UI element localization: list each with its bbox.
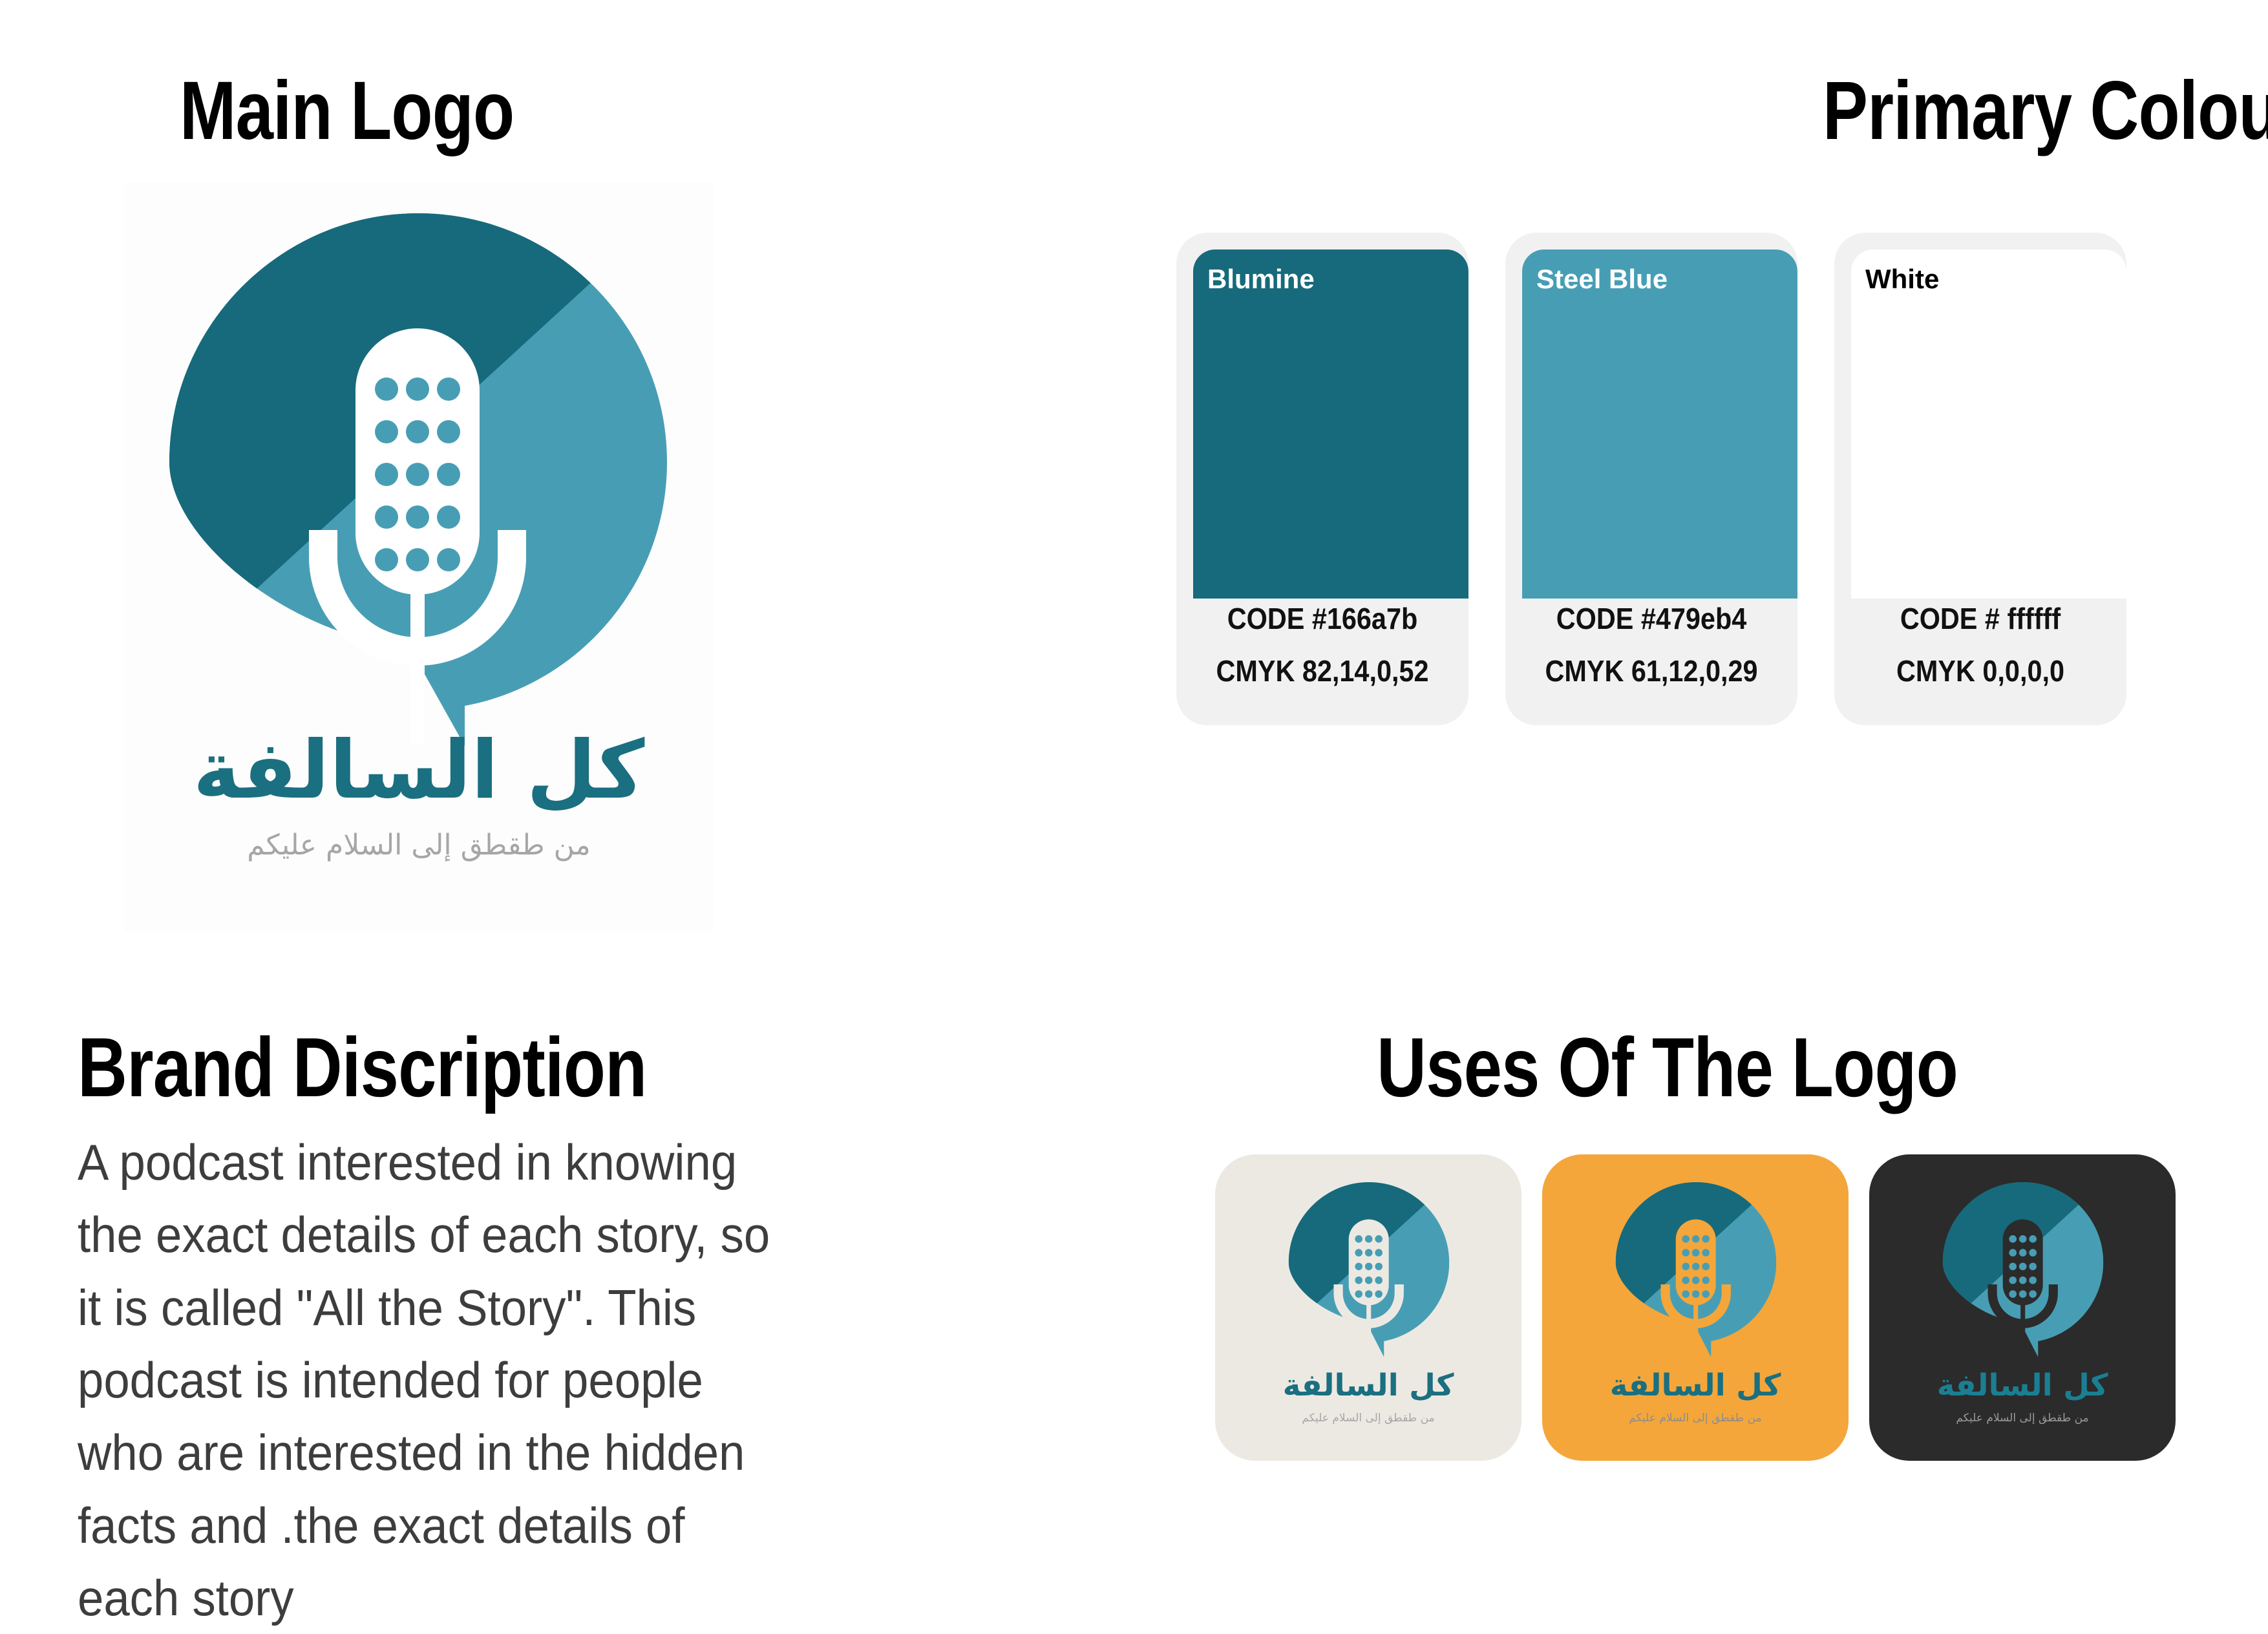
podcast-bubble-microphone-icon — [1936, 1176, 2110, 1360]
tile-wordmark: كل السالفة — [1215, 1368, 1521, 1403]
logo-wordmark: كل السالفة — [124, 724, 714, 817]
swatch-colour-fill: White — [1851, 249, 2126, 599]
uses-of-logo-section: Uses Of The Logo — [1131, 963, 2268, 1604]
brand-description-body: A podcast interested in knowing the exac… — [78, 1126, 781, 1634]
swatch-colour-fill: Blumine — [1193, 249, 1468, 599]
main-logo-section: Main Logo — [0, 0, 1131, 963]
swatch-cmyk-code: CMYK 0,0,0,0 — [1849, 645, 2112, 697]
swatch-cmyk-code: CMYK 82,14,0,52 — [1191, 645, 1454, 697]
logo-tagline: من طقطق إلى السلام عليكم — [124, 829, 714, 862]
swatch-colour-fill: Steel Blue — [1522, 249, 1797, 599]
podcast-bubble-microphone-icon — [1282, 1176, 1456, 1360]
main-logo-title: Main Logo — [180, 63, 514, 158]
swatch-name-label: Blumine — [1207, 264, 1315, 295]
logo-usage-tile-list: كل السالفة من طقطق إلى السلام عليكم — [1215, 1154, 2176, 1461]
swatch-name-label: Steel Blue — [1536, 264, 1668, 295]
swatch-hex-code: CODE # ffffff — [1849, 593, 2112, 645]
logo-usage-tile[interactable]: كل السالفة من طقطق إلى السلام عليكم — [1215, 1154, 1521, 1461]
swatch-name-label: White — [1865, 264, 1939, 295]
tile-wordmark: كل السالفة — [1542, 1368, 1849, 1403]
podcast-bubble-microphone-icon — [150, 195, 686, 751]
primary-colours-title: Primary Colours — [1823, 63, 2268, 158]
swatch-hex-code: CODE #166a7b — [1191, 593, 1454, 645]
podcast-bubble-microphone-icon — [1609, 1176, 1783, 1360]
brand-description-section: Brand Discription A podcast interested i… — [0, 963, 1131, 1604]
logo-usage-tile[interactable]: كل السالفة من طقطق إلى السلام عليكم — [1869, 1154, 2176, 1461]
brand-description-title: Brand Discription — [78, 1019, 646, 1116]
logo-usage-tile[interactable]: كل السالفة من طقطق إلى السلام عليكم — [1542, 1154, 1849, 1461]
colour-swatch-list: Blumine CODE #166a7b CMYK 82,14,0,52 Ste… — [1176, 233, 2126, 725]
tile-tagline: من طقطق إلى السلام عليكم — [1869, 1412, 2176, 1425]
tile-tagline: من طقطق إلى السلام عليكم — [1215, 1412, 1521, 1425]
swatch-cmyk-code: CMYK 61,12,0,29 — [1520, 645, 1783, 697]
main-logo-panel: كل السالفة من طقطق إلى السلام عليكم — [124, 182, 714, 932]
primary-colours-section: Primary Colours Blumine CODE #166a7b CMY… — [1131, 0, 2268, 963]
uses-of-logo-title: Uses Of The Logo — [1377, 1019, 1958, 1116]
swatch-meta: CODE # ffffff CMYK 0,0,0,0 — [1849, 593, 2112, 697]
swatch-meta: CODE #166a7b CMYK 82,14,0,52 — [1191, 593, 1454, 697]
colour-swatch-card[interactable]: Blumine CODE #166a7b CMYK 82,14,0,52 — [1176, 233, 1468, 725]
swatch-hex-code: CODE #479eb4 — [1520, 593, 1783, 645]
colour-swatch-card[interactable]: Steel Blue CODE #479eb4 CMYK 61,12,0,29 — [1505, 233, 1797, 725]
colour-swatch-card[interactable]: White CODE # ffffff CMYK 0,0,0,0 — [1834, 233, 2126, 725]
tile-tagline: من طقطق إلى السلام عليكم — [1542, 1412, 1849, 1425]
tile-wordmark: كل السالفة — [1869, 1368, 2176, 1403]
swatch-meta: CODE #479eb4 CMYK 61,12,0,29 — [1520, 593, 1783, 697]
